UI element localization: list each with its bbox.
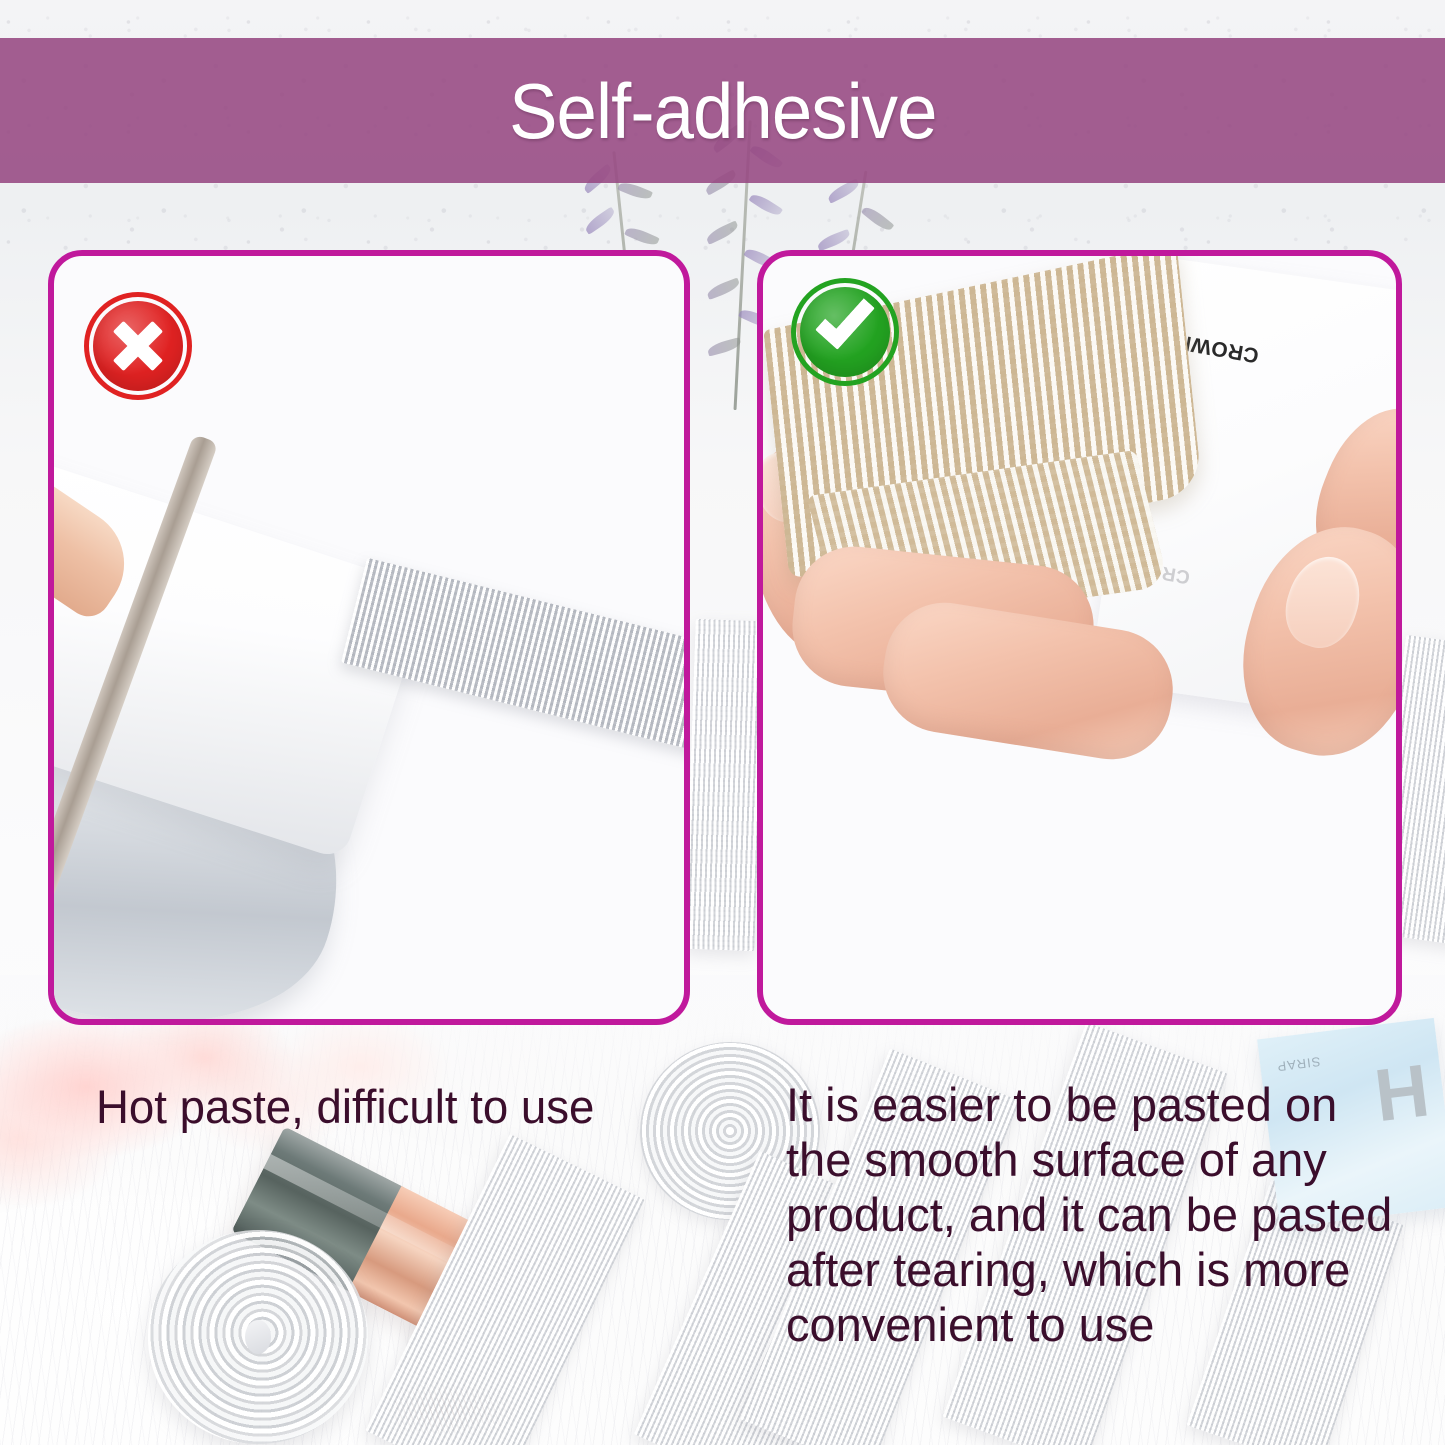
rhinestone-roll-spiral: [148, 1230, 368, 1444]
feather-prop: [395, 1375, 565, 1445]
red-x-circle-icon: [84, 292, 192, 400]
header-banner: Self-adhesive: [0, 38, 1445, 183]
comparison-panel-bad: [48, 250, 690, 1025]
iron-lever: [48, 486, 53, 557]
page-title: Self-adhesive: [509, 72, 936, 150]
iron-handle-knob: [48, 477, 146, 625]
caption-good: It is easier to be pasted on the smooth …: [786, 1078, 1411, 1353]
green-check-circle-icon: [791, 278, 899, 386]
rhinestone-ribbon-strip: [684, 619, 765, 951]
clothes-iron-illustration: [48, 444, 564, 1025]
infographic-canvas: SIRAP H Self-adhesive: [0, 0, 1445, 1445]
package-small-text: SIRAP: [1276, 1054, 1322, 1074]
caption-bad: Hot paste, difficult to use: [96, 1082, 678, 1132]
comparison-panel-good: CROWN® CROWN®: [757, 250, 1402, 1025]
